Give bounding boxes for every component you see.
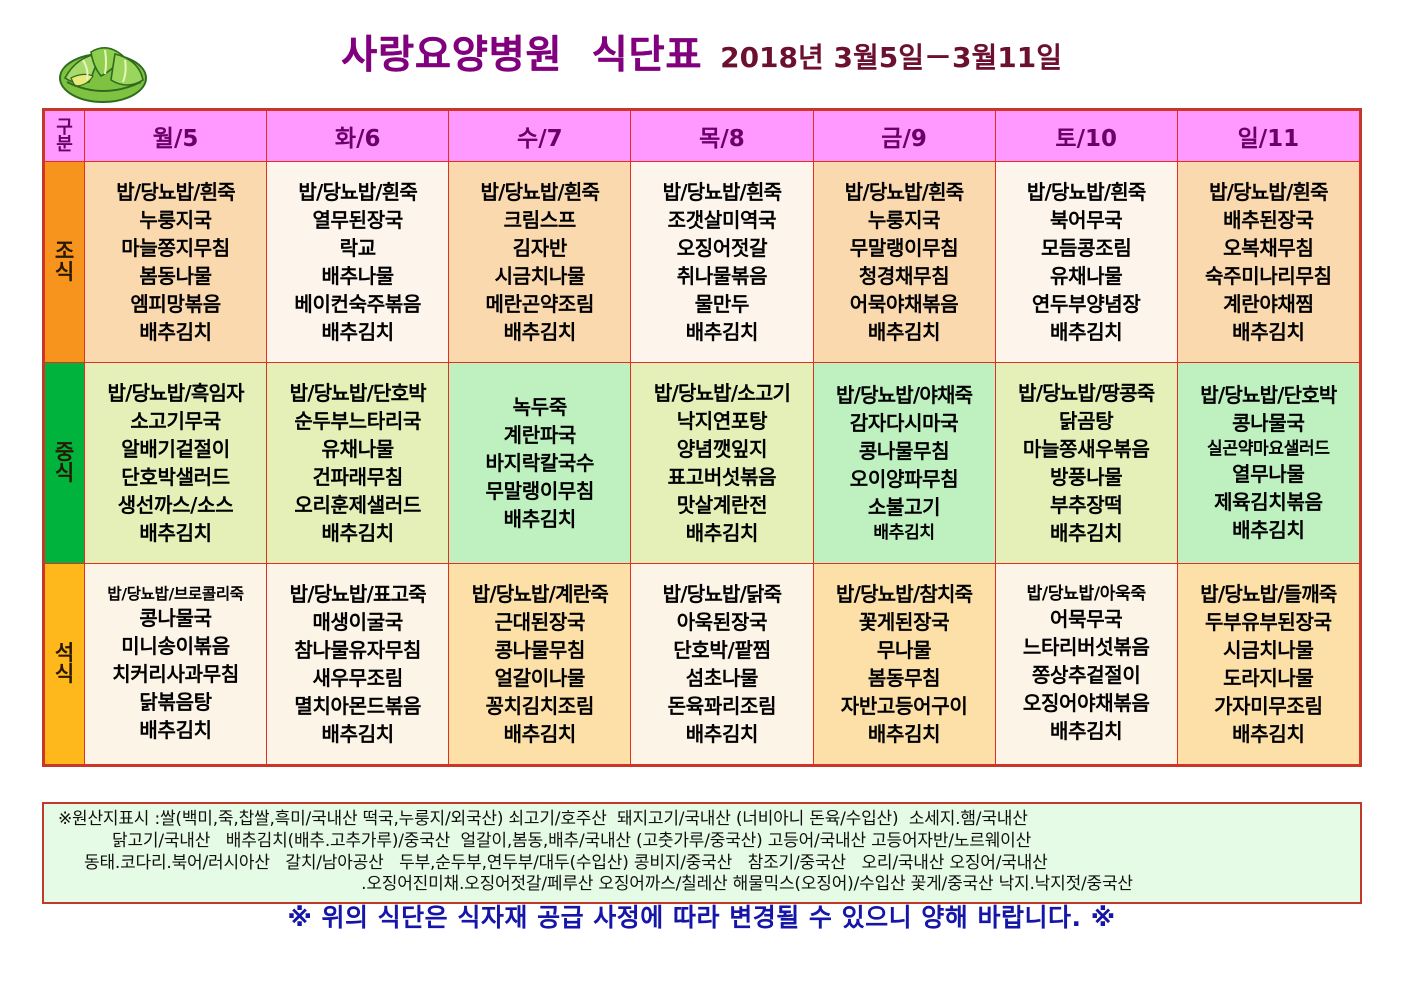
cell-dinner-tue: 밥/당뇨밥/표고죽 매생이굴국 참나물유자무침 새우무조림 멸치아몬드볶음 배추… [267, 564, 449, 765]
cell-lunch-thu: 밥/당뇨밥/소고기 낙지연포탕 양념깻잎지 표고버섯볶음 맛살계란전 배추김치 [631, 363, 813, 564]
dish: 소불고기 [868, 494, 940, 521]
dish: 배추김치 [322, 520, 394, 547]
dish: 오리훈제샐러드 [294, 492, 421, 519]
dish: 계란파국 [504, 422, 576, 449]
dish: 두부유부된장국 [1205, 609, 1332, 636]
dish: 새우무조림 [312, 665, 403, 692]
cell-lunch-fri: 밥/당뇨밥/야채죽 감자다시마국 콩나물무침 오이양파무침 소불고기 배추김치 [813, 363, 995, 564]
dish: 배추김치 [139, 319, 211, 346]
dish: 미니송이볶음 [121, 633, 230, 660]
dish: 콩나물국 [1232, 410, 1304, 437]
dish: 밥/당뇨밥/단호박 [1200, 382, 1336, 409]
dish: 밥/당뇨밥/브로콜리죽 [107, 584, 243, 605]
meal-plan-page: 사랑요양병원 식단표 2018년 3월5일－3월11일 구 분 월/5 화/6 … [0, 0, 1403, 992]
dish: 계란야채찜 [1223, 291, 1314, 318]
dish: 유채나물 [1050, 263, 1122, 290]
dish: 밥/당뇨밥/소고기 [654, 380, 790, 407]
dish: 배추김치 [322, 721, 394, 748]
dish: 베이컨숙주볶음 [294, 291, 421, 318]
dish: 얼갈이나물 [495, 665, 586, 692]
cell-dinner-sun: 밥/당뇨밥/들깨죽 두부유부된장국 시금치나물 도라지나물 가자미무조림 배추김… [1177, 564, 1359, 765]
dish: 멸치아몬드볶음 [294, 693, 421, 720]
dish: 근대된장국 [495, 609, 586, 636]
dish: 밥/당뇨밥/야채죽 [836, 382, 972, 409]
row-label-dinner-line1: 석 [45, 643, 84, 664]
row-label-breakfast: 조 식 [45, 162, 85, 363]
cell-breakfast-thu: 밥/당뇨밥/흰죽 조갯살미역국 오징어젓갈 취나물볶음 물만두 배추김치 [631, 162, 813, 363]
table-header-row: 구 분 월/5 화/6 수/7 목/8 금/9 토/10 일/11 [45, 111, 1360, 162]
dish: 물만두 [695, 291, 749, 318]
dish: 밥/당뇨밥/닭죽 [663, 581, 782, 608]
dish: 배추김치 [1050, 718, 1122, 745]
dish: 크림스프 [504, 207, 576, 234]
column-header-sat: 토/10 [995, 111, 1177, 162]
dish: 청경채무침 [859, 263, 950, 290]
dish: 밥/당뇨밥/계란죽 [472, 581, 608, 608]
napa-cabbage-icon [55, 30, 151, 108]
cell-dinner-fri: 밥/당뇨밥/참치죽 꽃게된장국 무나물 봄동무침 자반고등어구이 배추김치 [813, 564, 995, 765]
dish: 배추김치 [686, 319, 758, 346]
dish: 콩나물무침 [495, 637, 586, 664]
dish: 어묵무국 [1050, 606, 1122, 633]
dish: 무나물 [877, 637, 931, 664]
row-label-dinner: 석 식 [45, 564, 85, 765]
dish: 밥/당뇨밥/흰죽 [298, 179, 417, 206]
cell-breakfast-fri: 밥/당뇨밥/흰죽 누룽지국 무말랭이무침 청경채무침 어묵야채볶음 배추김치 [813, 162, 995, 363]
dish: 배추김치 [686, 520, 758, 547]
origin-line-1: ※원산지표시 :쌀(백미,죽,찹쌀,흑미/국내산 떡국,누룽지/외국산) 쇠고기… [54, 809, 1350, 831]
page-header: 사랑요양병원 식단표 2018년 3월5일－3월11일 [0, 0, 1403, 104]
cell-lunch-mon: 밥/당뇨밥/흑임자 소고기무국 알배기겉절이 단호박샐러드 생선까스/소스 배추… [85, 363, 267, 564]
dish: 부추장떡 [1050, 492, 1122, 519]
origin-line-2: 닭고기/국내산 배추김치(배추.고추가루)/중국산 얼갈이,봄동,배추/국내산 … [54, 831, 1350, 853]
table-row-lunch: 중 식 밥/당뇨밥/흑임자 소고기무국 알배기겉절이 단호박샐러드 생선까스/소… [45, 363, 1360, 564]
dish: 밥/당뇨밥/흰죽 [663, 179, 782, 206]
dish: 취나물볶음 [677, 263, 768, 290]
dish: 밥/당뇨밥/흰죽 [116, 179, 235, 206]
column-header-thu: 목/8 [631, 111, 813, 162]
dish: 마늘쫑지무침 [121, 235, 230, 262]
dish: 무말랭이무침 [486, 478, 595, 505]
cell-breakfast-sun: 밥/당뇨밥/흰죽 배추된장국 오복채무침 숙주미나리무침 계란야채찜 배추김치 [1177, 162, 1359, 363]
dish: 섬초나물 [686, 665, 758, 692]
dish: 메란곤약조림 [486, 291, 595, 318]
dish: 배추김치 [1232, 319, 1304, 346]
dish: 꽁치김치조림 [486, 693, 595, 720]
column-header-tue: 화/6 [267, 111, 449, 162]
origin-disclosure-box: ※원산지표시 :쌀(백미,죽,찹쌀,흑미/국내산 떡국,누룽지/외국산) 쇠고기… [42, 802, 1362, 904]
origin-line-3: 동태.코다리.북어/러시아산 갈치/남아공산 두부,순두부,연두부/대두(수입산… [54, 853, 1350, 875]
table-row-breakfast: 조 식 밥/당뇨밥/흰죽 누룽지국 마늘쫑지무침 봄동나물 엠피망볶음 배추김치 [45, 162, 1360, 363]
dish: 밥/당뇨밥/흰죽 [1209, 179, 1328, 206]
dish: 밥/당뇨밥/단호박 [290, 380, 426, 407]
change-notice: ※ 위의 식단은 식자재 공급 사정에 따라 변경될 수 있으니 양해 바랍니다… [0, 898, 1403, 934]
dish: 실곤약마요샐러드 [1207, 438, 1330, 461]
cell-lunch-tue: 밥/당뇨밥/단호박 순두부느타리국 유채나물 건파래무침 오리훈제샐러드 배추김… [267, 363, 449, 564]
dish: 배추나물 [322, 263, 394, 290]
dish: 배추김치 [1050, 520, 1122, 547]
dish: 맛살계란전 [677, 492, 768, 519]
dish: 알배기겉절이 [121, 436, 230, 463]
dish: 배추김치 [504, 721, 576, 748]
dish: 열무된장국 [312, 207, 403, 234]
dish: 표고버섯볶음 [668, 464, 777, 491]
dish: 건파래무침 [312, 464, 403, 491]
dish: 밥/당뇨밥/흰죽 [481, 179, 600, 206]
menu-table-container: 구 분 월/5 화/6 수/7 목/8 금/9 토/10 일/11 조 [42, 108, 1362, 767]
dish: 느타리버섯볶음 [1023, 634, 1150, 661]
row-label-dinner-line2: 식 [45, 664, 84, 685]
dish: 배추김치 [504, 319, 576, 346]
dish: 북어무국 [1050, 207, 1122, 234]
date-range: 2018년 3월5일－3월11일 [720, 36, 1062, 76]
cell-dinner-wed: 밥/당뇨밥/계란죽 근대된장국 콩나물무침 얼갈이나물 꽁치김치조림 배추김치 [449, 564, 631, 765]
dish: 순두부느타리국 [294, 408, 421, 435]
table-row-dinner: 석 식 밥/당뇨밥/브로콜리죽 콩나물국 미니송이볶음 치커리사과무침 닭볶음탕… [45, 564, 1360, 765]
cell-breakfast-wed: 밥/당뇨밥/흰죽 크림스프 김자반 시금치나물 메란곤약조림 배추김치 [449, 162, 631, 363]
dish: 배추김치 [868, 319, 940, 346]
dish: 치커리사과무침 [112, 661, 239, 688]
cell-breakfast-tue: 밥/당뇨밥/흰죽 열무된장국 락교 배추나물 베이컨숙주볶음 배추김치 [267, 162, 449, 363]
column-header-sun: 일/11 [1177, 111, 1359, 162]
dish: 도라지나물 [1223, 665, 1314, 692]
cell-lunch-wed: 녹두죽 계란파국 바지락칼국수 무말랭이무침 배추김치 [449, 363, 631, 564]
dish: 숙주미나리무침 [1205, 263, 1332, 290]
dish: 오징어젓갈 [677, 235, 768, 262]
row-label-lunch-line2: 식 [45, 463, 84, 484]
dish: 단호박/팥찜 [673, 637, 771, 664]
column-header-fri: 금/9 [813, 111, 995, 162]
dish: 참나물유자무침 [294, 637, 421, 664]
dish: 가자미무조림 [1214, 693, 1323, 720]
dish: 꽃게된장국 [859, 609, 950, 636]
dish: 락교 [340, 235, 376, 262]
dish: 배추김치 [686, 721, 758, 748]
dish: 오복채무침 [1223, 235, 1314, 262]
cell-lunch-sun: 밥/당뇨밥/단호박 콩나물국 실곤약마요샐러드 열무나물 제육김치볶음 배추김치 [1177, 363, 1359, 564]
weekly-menu-table: 구 분 월/5 화/6 수/7 목/8 금/9 토/10 일/11 조 [44, 110, 1360, 765]
cell-breakfast-sat: 밥/당뇨밥/흰죽 북어무국 모듬콩조림 유채나물 연두부양념장 배추김치 [995, 162, 1177, 363]
dish: 콩나물무침 [859, 438, 950, 465]
dish: 누룽지국 [868, 207, 940, 234]
dish: 닭볶음탕 [139, 689, 211, 716]
dish: 시금치나물 [495, 263, 586, 290]
page-title: 사랑요양병원 식단표 [341, 24, 702, 80]
dish: 오이양파무침 [850, 466, 959, 493]
dish: 밥/당뇨밥/아욱죽 [1027, 583, 1146, 606]
cell-dinner-sat: 밥/당뇨밥/아욱죽 어묵무국 느타리버섯볶음 쫑상추겉절이 오징어야채볶음 배추… [995, 564, 1177, 765]
dish: 시금치나물 [1223, 637, 1314, 664]
cell-dinner-thu: 밥/당뇨밥/닭죽 아욱된장국 단호박/팥찜 섬초나물 돈육꽈리조림 배추김치 [631, 564, 813, 765]
dish: 녹두죽 [513, 394, 567, 421]
column-header-wed: 수/7 [449, 111, 631, 162]
dish: 조갯살미역국 [668, 207, 777, 234]
dish: 밥/당뇨밥/표고죽 [290, 581, 426, 608]
cell-breakfast-mon: 밥/당뇨밥/흰죽 누룽지국 마늘쫑지무침 봄동나물 엠피망볶음 배추김치 [85, 162, 267, 363]
dish: 김자반 [513, 235, 567, 262]
dish: 배추김치 [139, 717, 211, 744]
dish: 밥/당뇨밥/흰죽 [845, 179, 964, 206]
column-header-mon: 월/5 [85, 111, 267, 162]
origin-line-4: .오징어진미채.오징어젓갈/페루산 오징어까스/칠레산 해물믹스(오징어)/수입… [54, 874, 1350, 896]
dish: 방풍나물 [1050, 464, 1122, 491]
dish: 바지락칼국수 [486, 450, 595, 477]
row-label-lunch-line1: 중 [45, 442, 84, 463]
row-label-breakfast-line2: 식 [45, 262, 84, 283]
dish: 배추김치 [873, 522, 934, 545]
gubun-label-line2: 분 [45, 136, 84, 153]
dish: 배추김치 [504, 506, 576, 533]
dish: 닭곰탕 [1059, 408, 1113, 435]
dish: 낙지연포탕 [677, 408, 768, 435]
dish: 모듬콩조림 [1041, 235, 1132, 262]
dish: 배추김치 [322, 319, 394, 346]
dish: 콩나물국 [139, 605, 211, 632]
dish: 밥/당뇨밥/참치죽 [836, 581, 972, 608]
dish: 무말랭이무침 [850, 235, 959, 262]
dish: 연두부양념장 [1032, 291, 1141, 318]
dish: 돈육꽈리조림 [668, 693, 777, 720]
dish: 엠피망볶음 [130, 291, 221, 318]
row-label-lunch: 중 식 [45, 363, 85, 564]
dish: 아욱된장국 [677, 609, 768, 636]
dish: 감자다시마국 [850, 410, 959, 437]
dish: 쫑상추겉절이 [1032, 662, 1141, 689]
dish: 생선까스/소스 [118, 492, 234, 519]
dish: 배추김치 [868, 721, 940, 748]
dish: 밥/당뇨밥/땅콩죽 [1018, 380, 1154, 407]
dish: 제육김치볶음 [1214, 489, 1323, 516]
dish: 배추김치 [1232, 721, 1304, 748]
dish: 양념깻잎지 [677, 436, 768, 463]
dish: 봄동무침 [868, 665, 940, 692]
dish: 어묵야채볶음 [850, 291, 959, 318]
cell-lunch-sat: 밥/당뇨밥/땅콩죽 닭곰탕 마늘쫑새우볶음 방풍나물 부추장떡 배추김치 [995, 363, 1177, 564]
row-label-breakfast-line1: 조 [45, 241, 84, 262]
dish: 소고기무국 [130, 408, 221, 435]
dish: 누룽지국 [139, 207, 211, 234]
dish: 오징어야채볶음 [1023, 690, 1150, 717]
dish: 열무나물 [1232, 461, 1304, 488]
column-header-gubun: 구 분 [45, 111, 85, 162]
dish: 마늘쫑새우볶음 [1023, 436, 1150, 463]
dish: 봄동나물 [139, 263, 211, 290]
dish: 배추김치 [139, 520, 211, 547]
dish: 밥/당뇨밥/흑임자 [107, 380, 243, 407]
dish: 배추김치 [1050, 319, 1122, 346]
dish: 배추김치 [1232, 517, 1304, 544]
dish: 유채나물 [322, 436, 394, 463]
dish: 배추된장국 [1223, 207, 1314, 234]
dish: 밥/당뇨밥/흰죽 [1027, 179, 1146, 206]
dish: 밥/당뇨밥/들깨죽 [1200, 581, 1336, 608]
dish: 단호박샐러드 [121, 464, 230, 491]
dish: 매생이굴국 [312, 609, 403, 636]
cell-dinner-mon: 밥/당뇨밥/브로콜리죽 콩나물국 미니송이볶음 치커리사과무침 닭볶음탕 배추김… [85, 564, 267, 765]
dish: 자반고등어구이 [841, 693, 968, 720]
